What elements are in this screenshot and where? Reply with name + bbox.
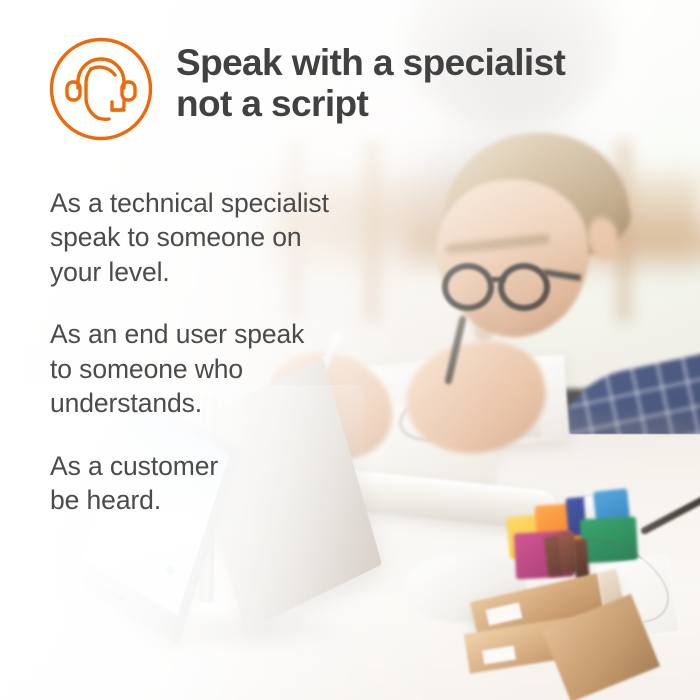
paragraph-line: As an end user speak (50, 317, 400, 351)
paragraph-line: to someone who (50, 352, 400, 386)
paragraph-end-user: As an end user speak to someone who unde… (50, 317, 400, 420)
paragraph-line: speak to someone on (50, 220, 400, 254)
paragraph-line: As a customer (50, 449, 400, 483)
paragraph-customer: As a customer be heard. (50, 449, 400, 518)
paragraph-line: As a technical specialist (50, 186, 400, 220)
headline-line-2: not a script (176, 83, 565, 124)
headset-support-icon (48, 36, 154, 142)
body-copy: As a technical specialist speak to someo… (50, 186, 400, 518)
page-title: Speak with a specialist not a script (176, 42, 565, 125)
paragraph-technical-specialist: As a technical specialist speak to someo… (50, 186, 400, 289)
headline-row: Speak with a specialist not a script (48, 36, 565, 142)
promo-poster: Speak with a specialist not a script As … (0, 0, 700, 700)
poster-content: Speak with a specialist not a script As … (0, 0, 700, 700)
paragraph-line: your level. (50, 255, 400, 289)
paragraph-line: understands. (50, 386, 400, 420)
headline-line-1: Speak with a specialist (176, 42, 565, 83)
paragraph-line: be heard. (50, 483, 400, 517)
